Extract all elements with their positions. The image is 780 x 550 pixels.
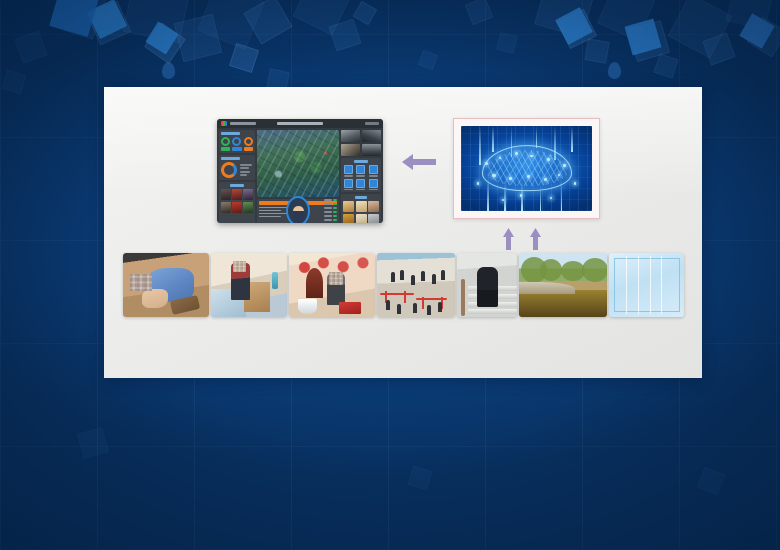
device-icon-item[interactable] [343,179,354,191]
person-thumbnail[interactable] [232,202,242,213]
gauge-ring-icon [232,137,241,146]
person-thumbnail[interactable] [243,202,253,213]
device-icon-label [369,175,378,177]
kpi-row [257,199,339,224]
event-photo[interactable] [343,201,354,212]
device-icon-item[interactable] [343,165,354,177]
command-center-dashboard[interactable] [217,119,383,223]
device-icon-label [356,189,365,191]
device-icon-item[interactable] [368,179,379,191]
event-photo[interactable] [368,201,379,212]
person-thumbnail[interactable] [232,189,242,200]
list-item[interactable] [609,253,684,317]
ai-brain-image [461,126,592,211]
person-thumbnail[interactable] [243,189,253,200]
content-panel [104,87,702,378]
person-thumbnail[interactable] [221,189,231,200]
person-thumbnail[interactable] [221,202,231,213]
cctv-feed-grid [341,130,381,156]
dashboard-title-text [277,122,323,125]
panel-sheen [104,87,702,378]
cctv-feed[interactable] [362,130,381,142]
event-photo[interactable] [356,201,367,212]
ai-brain-visual[interactable] [453,118,600,219]
gauge-row [221,137,253,151]
donut-chart-card[interactable] [219,155,255,180]
device-card-header [354,160,368,163]
dashboard-product-label [230,122,256,125]
list-item[interactable] [289,253,375,317]
list-item[interactable] [457,253,517,317]
device-icon [369,165,378,174]
avatar-figure-icon [293,206,304,224]
device-icon [356,165,365,174]
donut-card-header [221,157,240,160]
donut-legend [240,164,253,177]
event-photo[interactable] [343,214,354,224]
device-icon-label [344,175,353,177]
event-card-header [355,196,367,199]
device-icon-card[interactable] [341,158,381,192]
device-icon [356,179,365,188]
list-item[interactable] [377,253,455,317]
device-icon-item[interactable] [356,165,367,177]
kpi-bar-row [324,199,338,202]
gauge-item[interactable] [232,137,241,151]
dashboard-center-column [257,130,339,223]
campus-3d-map[interactable] [257,130,339,197]
thumbnail-card-header [230,184,244,187]
arrow-left-icon [400,151,438,173]
dashboard-left-column [219,130,255,223]
device-icon-label [344,189,353,191]
kpi-line [259,210,281,212]
slide-stage [0,0,780,550]
list-item[interactable] [211,253,287,317]
gauge-ring-icon [244,137,253,146]
device-icon-grid [343,165,379,190]
kpi-line [259,216,281,218]
gauge-label-bar [244,147,253,151]
device-icon-label [369,189,378,191]
legend-line [240,164,252,166]
person-thumbnail-grid [221,189,253,213]
gauge-label-bar [232,147,241,151]
arrow-up-icon [502,227,515,251]
kpi-bar-row [324,215,338,218]
person-thumbnail-card[interactable] [219,182,255,223]
dashboard-right-column [341,130,381,223]
list-item[interactable] [123,253,209,317]
dashboard-body [217,128,383,223]
kpi-bar-list [324,199,338,222]
device-icon [344,165,353,174]
cctv-feed[interactable] [341,144,360,156]
cctv-feed[interactable] [362,144,381,156]
gauge-card[interactable] [219,130,255,153]
kpi-bar-row [324,219,338,222]
arrow-up-group [502,227,542,251]
dashboard-menu-icon[interactable] [365,122,379,125]
privacy-mosaic [233,261,246,272]
privacy-mosaic [329,272,344,285]
donut-row [221,162,253,178]
device-icon-item[interactable] [356,179,367,191]
cctv-feed[interactable] [341,130,360,142]
device-icon [344,179,353,188]
device-icon-item[interactable] [368,165,379,177]
gauge-item[interactable] [221,137,230,151]
arrow-up-icon [529,227,542,251]
event-photo[interactable] [368,214,379,224]
gauge-ring-icon [221,137,230,146]
device-icon [369,179,378,188]
legend-line [240,167,249,169]
legend-line [240,171,250,173]
brain-network-shape [482,145,572,191]
evidence-photo-strip [123,253,684,317]
legend-line [240,174,247,176]
dashboard-logo-icon [221,121,227,126]
event-photo[interactable] [356,214,367,224]
dashboard-titlebar [217,119,383,128]
privacy-mosaic [130,274,152,291]
gauge-card-header [221,132,240,135]
person-profile-avatar[interactable] [286,196,310,224]
donut-chart-icon [221,162,237,178]
kpi-bar-row [324,203,338,206]
event-photo-card[interactable] [341,194,381,223]
list-item[interactable] [519,253,607,317]
event-photo-grid [343,201,379,223]
gauge-label-bar [221,147,230,151]
device-icon-label [356,175,365,177]
gauge-item[interactable] [244,137,253,151]
kpi-bar-row [324,207,338,210]
kpi-bar-row [324,211,338,214]
